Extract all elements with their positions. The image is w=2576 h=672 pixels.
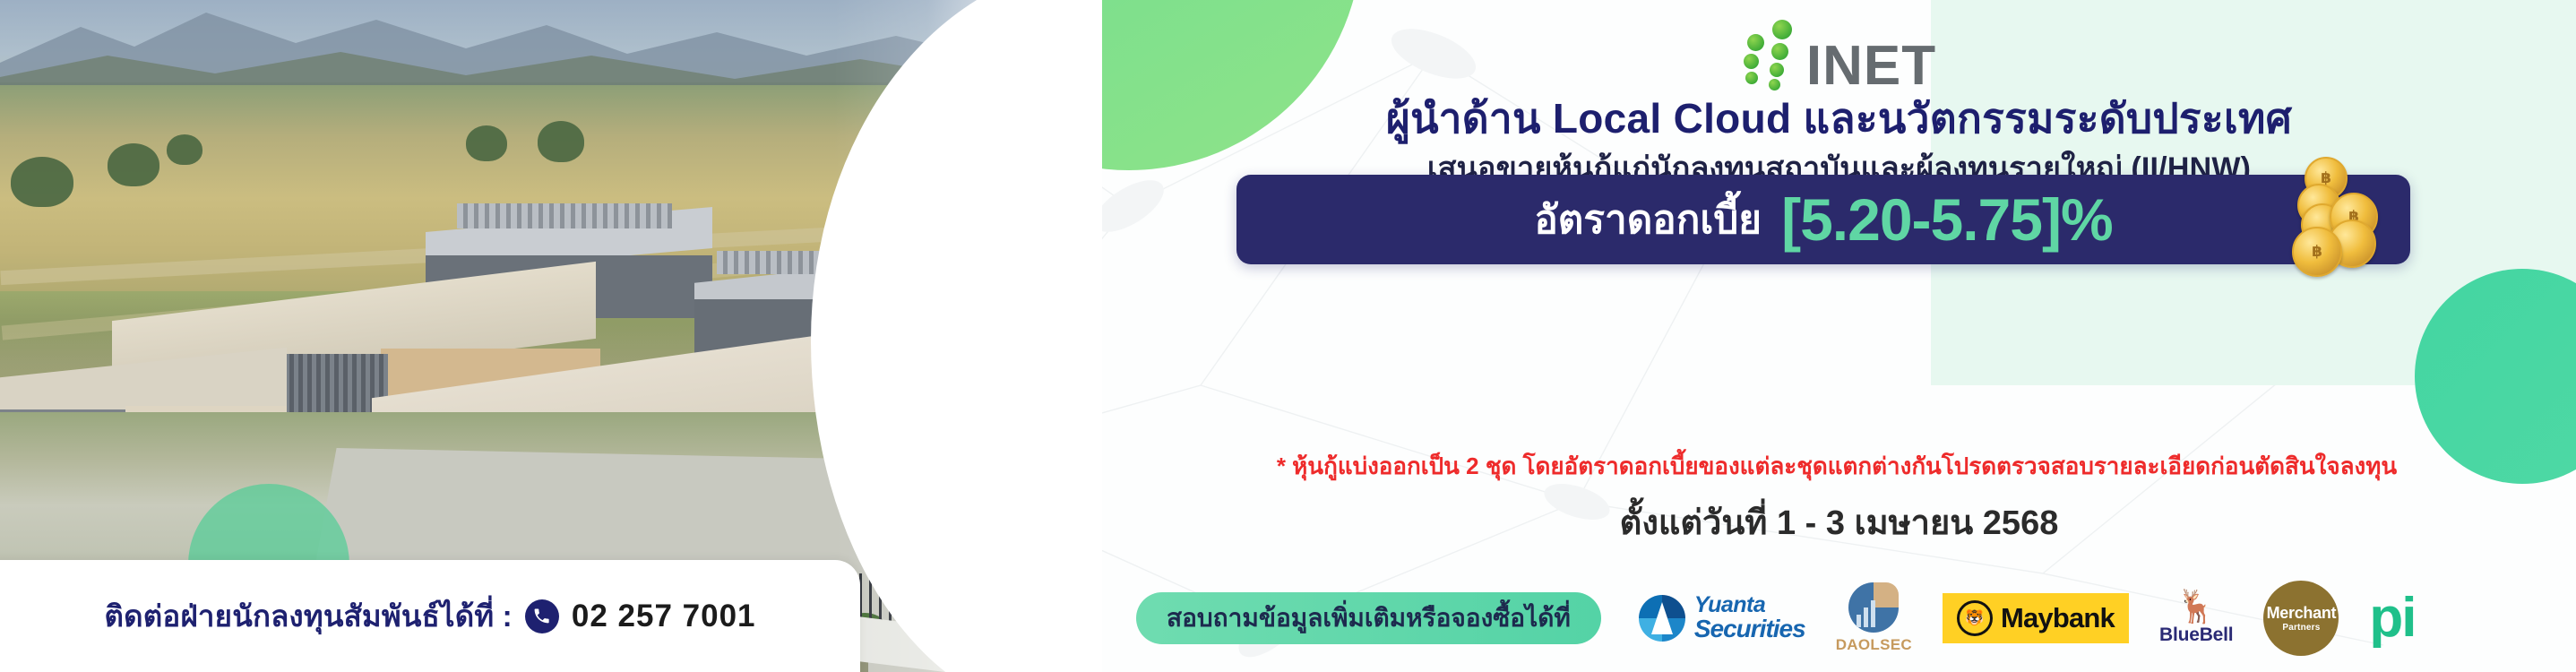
coin-bottom: ฿ — [2292, 227, 2342, 277]
inet-logo-text: INET — [1806, 41, 1936, 91]
pi-wordmark: pi — [2369, 596, 2415, 641]
inet-dots-icon — [1742, 13, 1801, 91]
partner-logo-yuanta[interactable]: Yuanta Securities — [1639, 587, 1805, 650]
inet-logo[interactable]: INET — [1102, 13, 2576, 91]
daol-mark-icon — [1848, 582, 1899, 633]
yuanta-line1: Yuanta — [1694, 594, 1805, 617]
partner-logo-maybank[interactable]: 🐯 Maybank — [1943, 587, 2129, 650]
interest-rate-label: อัตราดอกเบี้ย — [1534, 188, 1762, 251]
interest-rate-box: อัตราดอกเบี้ย [5.20-5.75]% ฿ ฿ ฿ — [1236, 175, 2410, 264]
interest-rate-value: [5.20-5.75]% — [1781, 190, 2113, 249]
partner-logo-merchant-partners[interactable]: Merchant Partners — [2263, 587, 2339, 650]
offering-dates: ตั้งแต่วันที่ 1 - 3 เมษายน 2568 — [1102, 495, 2576, 549]
partner-logo-daol[interactable]: DAOLSEC — [1836, 587, 1912, 650]
phone-icon — [525, 599, 559, 633]
cta-and-partners-row: สอบถามข้อมูลเพิ่มเติมหรือจองซื้อได้ที่ Y… — [1102, 582, 2576, 654]
yuanta-line2: Securities — [1694, 616, 1805, 642]
bond-disclaimer-note: * หุ้นกู้แบ่งออกเป็น 2 ชุด โดยอัตราดอกเบ… — [1084, 448, 2576, 485]
partner-logo-pi[interactable]: pi — [2369, 587, 2415, 650]
page-title: ผู้นำด้าน Local Cloud และนวัตกรรมระดับปร… — [1102, 86, 2576, 151]
merchant-line2: Partners — [2282, 623, 2320, 633]
banner-content: INET ผู้นำด้าน Local Cloud และนวัตกรรมระ… — [1102, 0, 2576, 672]
investor-relations-contact-bar: ติดต่อฝ่ายนักลงทุนสัมพันธ์ได้ที่ : 02 25… — [0, 560, 860, 672]
gold-coins-icon: ฿ ฿ ฿ — [2287, 150, 2421, 284]
maybank-wordmark: Maybank — [2001, 602, 2115, 634]
maybank-tiger-icon: 🐯 — [1957, 600, 1993, 636]
bluebell-wordmark: BlueBell — [2159, 625, 2233, 646]
partner-logo-bluebell[interactable]: 🦌 BlueBell — [2159, 587, 2233, 650]
daol-line2: SEC — [1880, 636, 1912, 653]
partner-logos: Yuanta Securities DAOLSEC — [1639, 587, 2416, 650]
inet-bond-offering-banner: ติดต่อฝ่ายนักลงทุนสัมพันธ์ได้ที่ : 02 25… — [0, 0, 2576, 672]
contact-label: ติดต่อฝ่ายนักลงทุนสัมพันธ์ได้ที่ : — [104, 592, 512, 640]
merchant-line1: Merchant — [2267, 604, 2337, 623]
yuanta-mark-icon — [1639, 595, 1685, 642]
deer-icon: 🦌 — [2176, 590, 2217, 623]
contact-phone-number[interactable]: 02 257 7001 — [572, 599, 756, 634]
subscribe-info-button[interactable]: สอบถามข้อมูลเพิ่มเติมหรือจองซื้อได้ที่ — [1136, 592, 1601, 644]
daol-line1: DAOL — [1836, 636, 1880, 653]
